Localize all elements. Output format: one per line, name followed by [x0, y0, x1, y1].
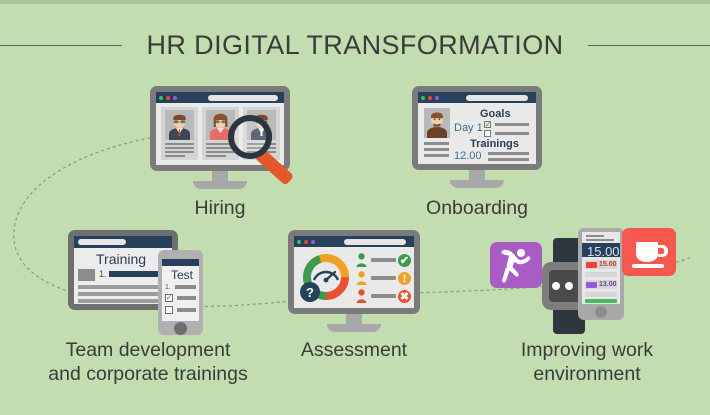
hours-value: 12.00: [454, 150, 482, 162]
browser-url-bar[interactable]: [466, 95, 528, 101]
browser-dot-purple: [435, 96, 439, 100]
test-line: [175, 285, 196, 289]
browser-dot-red: [428, 96, 432, 100]
checkmark-icon: ✓: [166, 293, 174, 302]
info-line: [424, 148, 449, 151]
training-line: [78, 292, 164, 296]
assessment-line: [371, 276, 396, 280]
tablet-url-bar[interactable]: [78, 239, 126, 245]
status-check-icon: ✔: [398, 254, 411, 267]
schedule-chip: [586, 262, 597, 268]
watch-indicator-dot: [552, 282, 560, 290]
title-rule-left: [0, 45, 122, 46]
watch-indicator-dot: [565, 282, 573, 290]
schedule-row-time: 15.00: [599, 261, 617, 268]
checkmark-icon: ✓: [485, 121, 492, 128]
person-icon: [356, 253, 367, 267]
training-thumbnail: [78, 269, 95, 281]
caption-improving-work-environment: Improving work environment: [492, 338, 682, 386]
goals-heading: Goals: [480, 108, 511, 120]
magnifier-ring: [228, 115, 272, 159]
phone-browser-bar: [162, 259, 199, 266]
schedule-row-time: 13.00: [599, 281, 617, 288]
title-rule-right: [588, 45, 710, 46]
phone-home-button[interactable]: [595, 306, 607, 318]
assessment-screen: ? ✔ !: [294, 236, 414, 308]
trainings-heading: Trainings: [470, 138, 519, 150]
schedule-phone-screen: 15.00 15.00 13.00: [582, 232, 620, 304]
training-line: [78, 285, 164, 289]
test-checkbox-unchecked[interactable]: [165, 306, 173, 314]
assessment-line: [371, 258, 396, 262]
status-warning-icon: !: [398, 272, 411, 285]
page-title-row: HR DIGITAL TRANSFORMATION: [0, 28, 710, 62]
question-badge[interactable]: ?: [300, 282, 320, 302]
test-line: [177, 308, 196, 312]
infographic-canvas: HR DIGITAL TRANSFORMATION: [0, 0, 710, 415]
test-line: [177, 296, 196, 300]
exercise-icon: [490, 242, 542, 288]
browser-url-bar[interactable]: [344, 239, 406, 245]
person-icon: [356, 289, 367, 303]
schedule-row[interactable]: [585, 272, 617, 277]
caption-team-development: Team development and corporate trainings: [28, 338, 268, 386]
monitor-base: [327, 324, 381, 332]
training-heading: Training: [96, 251, 146, 267]
employee-avatar-icon: [424, 108, 450, 138]
goal-checkbox-unchecked[interactable]: [484, 130, 491, 137]
phone-screen: Test 1. ✓: [162, 259, 199, 321]
coffee-cup-icon: [622, 228, 676, 276]
browser-dot-green: [297, 240, 301, 244]
test-item-number: 1.: [165, 284, 171, 291]
schedule-chip: [585, 299, 617, 303]
browser-bar: [418, 92, 536, 103]
phone-home-button[interactable]: [174, 322, 187, 335]
schedule-row[interactable]: [585, 292, 617, 297]
info-line: [424, 142, 449, 145]
schedule-phone: 15.00 15.00 13.00: [578, 228, 624, 320]
caption-hiring: Hiring: [150, 196, 290, 220]
goal-line: [495, 123, 529, 126]
training-item-number: 1.: [99, 269, 107, 279]
browser-bar: [294, 236, 414, 247]
browser-dot-green: [421, 96, 425, 100]
phone-top-lines: [586, 235, 604, 237]
assessment-row[interactable]: ✖: [356, 289, 412, 303]
browser-dot-red: [304, 240, 308, 244]
onboarding-screen: Goals Day 1 ✓ Trainings 12.00: [418, 92, 536, 164]
browser-dot-purple: [311, 240, 315, 244]
test-heading: Test: [171, 268, 193, 282]
training-line: [488, 152, 529, 155]
goal-line: [495, 132, 529, 135]
caption-onboarding: Onboarding: [407, 196, 547, 220]
person-icon: [356, 271, 367, 285]
status-error-icon: ✖: [398, 290, 411, 303]
info-line: [424, 154, 449, 157]
page-title: HR DIGITAL TRANSFORMATION: [146, 30, 563, 61]
header-time: 15.00: [587, 244, 620, 259]
test-phone: Test 1. ✓: [158, 250, 203, 335]
magnifier-icon: [150, 86, 290, 196]
assessment-line: [371, 294, 396, 298]
exercise-bubble[interactable]: [490, 242, 542, 288]
caption-assessment: Assessment: [284, 338, 424, 362]
monitor-base: [450, 180, 504, 188]
training-progress-bar: [109, 271, 164, 277]
assessment-monitor: ? ✔ !: [288, 230, 420, 338]
day-label: Day 1: [454, 122, 483, 134]
top-edge-strip: [0, 0, 710, 4]
schedule-chip: [586, 282, 597, 288]
training-line: [78, 299, 164, 303]
phone-top-lines: [586, 239, 614, 241]
coffee-bubble[interactable]: [622, 228, 676, 276]
onboarding-monitor: Goals Day 1 ✓ Trainings 12.00: [412, 86, 542, 194]
assessment-row[interactable]: !: [356, 271, 412, 285]
assessment-row[interactable]: ✔: [356, 253, 412, 267]
training-line: [488, 158, 529, 161]
